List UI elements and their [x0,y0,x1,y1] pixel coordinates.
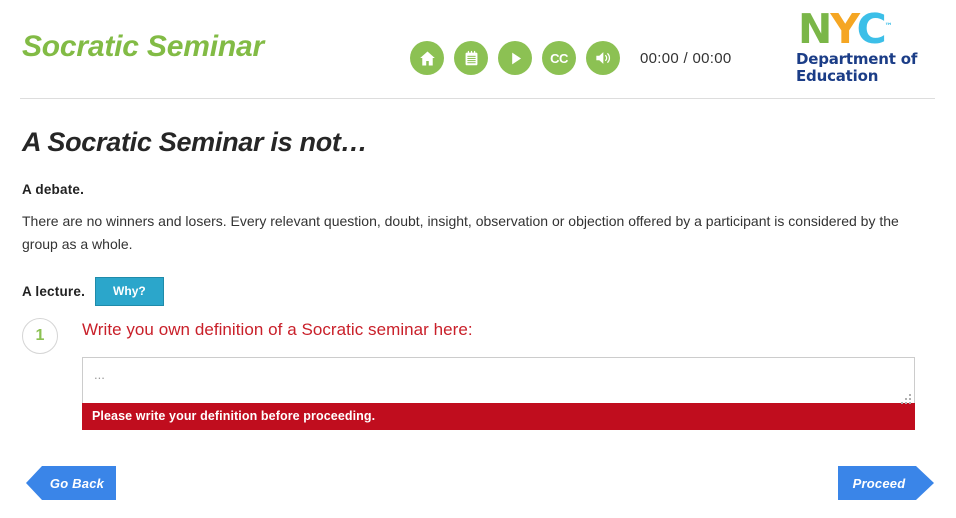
page-title: A Socratic Seminar is not… [22,99,934,158]
logo-trademark: ™ [885,21,893,30]
logo-subtitle-line1: Department of [796,51,934,68]
debate-paragraph: There are no winners and losers. Every r… [22,210,927,255]
course-title: Socratic Seminar [22,30,264,64]
question-number-badge: 1 [22,318,58,354]
textarea-resize-handle[interactable] [899,392,911,404]
definition-textarea[interactable] [82,357,915,403]
volume-icon[interactable] [586,41,620,75]
lecture-row: A lecture. Why? [22,277,934,306]
nyc-wordmark: NYC™ [798,10,936,49]
home-icon[interactable] [410,41,444,75]
proceed-button[interactable]: Proceed [838,466,934,500]
cc-icon[interactable]: CC [542,41,576,75]
logo-letter-y: Y [830,5,856,53]
validation-error-message: Please write your definition before proc… [82,403,915,430]
nyc-doe-logo: NYC™ Department of Education [796,10,934,88]
footer-navigation: Go Back Proceed [0,462,956,510]
media-timecode: 00:00 / 00:00 [640,50,731,67]
cc-label: CC [550,51,568,66]
lecture-label: A lecture. [22,284,85,299]
logo-subtitle-line2: Education [796,68,934,85]
media-player-toolbar: CC 00:00 / 00:00 [410,41,731,75]
debate-label: A debate. [22,182,934,197]
go-back-button[interactable]: Go Back [26,466,116,500]
why-button[interactable]: Why? [95,277,164,306]
question-prompt: Write you own definition of a Socratic s… [82,320,915,340]
notepad-icon[interactable] [454,41,488,75]
logo-subtitle: Department of Education [796,51,934,85]
page-header: Socratic Seminar CC [0,0,956,99]
question-body: Write you own definition of a Socratic s… [82,314,915,430]
logo-letter-c: C [857,5,885,53]
play-icon[interactable] [498,41,532,75]
logo-letter-n: N [798,5,830,53]
answer-wrapper: Please write your definition before proc… [82,357,915,430]
question-block: 1 Write you own definition of a Socratic… [22,314,934,430]
main-content: A Socratic Seminar is not… A debate. The… [0,99,956,430]
